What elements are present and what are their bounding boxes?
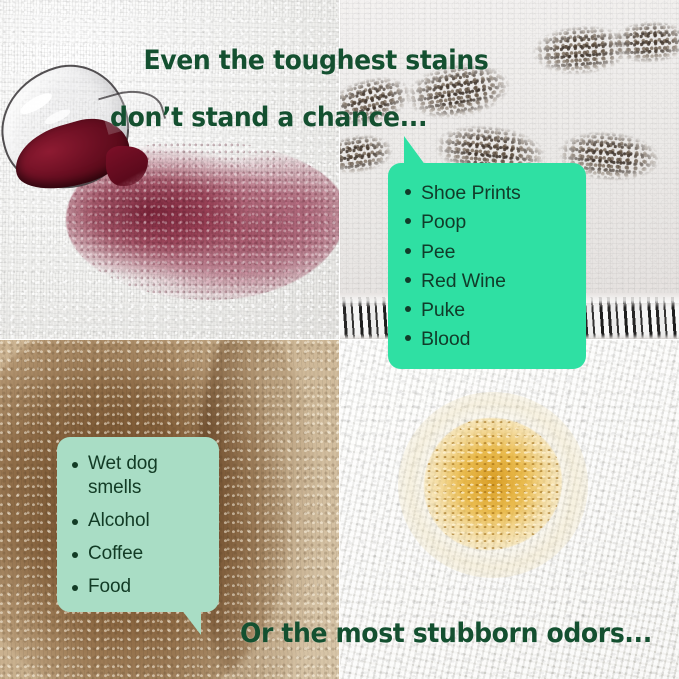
headline-top-line1: Even the toughest stains [143,45,488,76]
headline-top-line2: don’t stand a chance... [110,104,488,133]
list-item: Pee [404,238,572,267]
list-item: Food [71,575,209,599]
list-item: Poop [404,208,572,237]
shoe-print [523,18,639,82]
product-infographic: Even the toughest stains don’t stand a c… [0,0,679,679]
headline-bottom: Or the most stubborn odors... [240,620,652,649]
list-item: Blood [404,325,572,354]
speech-bubble-odors: Wet dog smells Alcohol Coffee Food [57,437,219,612]
stains-list: Shoe Prints Poop Pee Red Wine Puke Blood [404,179,572,355]
odors-list: Wet dog smells Alcohol Coffee Food [71,452,209,599]
list-item: Red Wine [404,267,572,296]
glass-highlight [18,89,55,117]
list-item: Coffee [71,542,209,566]
list-item: Alcohol [71,509,209,533]
speech-bubble-stains: Shoe Prints Poop Pee Red Wine Puke Blood [388,163,586,369]
speech-bubble-tail-icon [181,609,201,635]
list-item: Shoe Prints [404,179,572,208]
list-item: Wet dog smells [71,452,209,500]
list-item: Puke [404,296,572,325]
speech-bubble-tail-icon [404,136,426,166]
